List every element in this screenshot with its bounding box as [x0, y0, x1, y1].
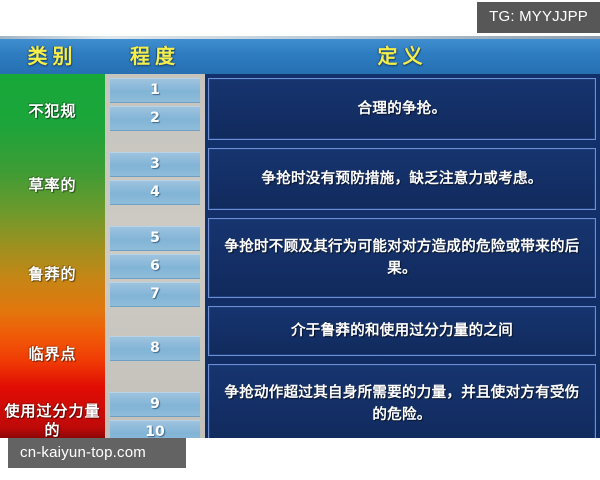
definition-box: 争抢时没有预防措施，缺乏注意力或考虑。 [208, 148, 596, 210]
site-watermark: cn-kaiyun-top.com [8, 438, 186, 468]
header-cell-degree: 程度 [105, 39, 205, 74]
degree-cell: 6 [110, 254, 200, 279]
slide-table: 类别 程度 定义 不犯规草率的鲁莽的临界点使用过分力量的 12345678910… [0, 36, 600, 438]
header-cell-definition: 定义 [205, 39, 600, 74]
degree-cell: 1 [110, 78, 200, 103]
degree-cell: 5 [110, 226, 200, 251]
category-label: 使用过分力量的 [0, 402, 105, 438]
degree-cell: 3 [110, 152, 200, 177]
degree-cell: 4 [110, 180, 200, 205]
category-label: 临界点 [0, 345, 105, 364]
degree-cell: 2 [110, 106, 200, 131]
definition-box: 介于鲁莽的和使用过分力量的之间 [208, 306, 596, 356]
category-label: 草率的 [0, 176, 105, 195]
definition-box: 合理的争抢。 [208, 78, 596, 140]
degree-cell: 10 [110, 420, 200, 438]
category-gradient-column: 不犯规草率的鲁莽的临界点使用过分力量的 [0, 74, 105, 438]
header-cell-category: 类别 [0, 39, 105, 74]
definition-text: 介于鲁莽的和使用过分力量的之间 [281, 320, 523, 342]
degree-column: 12345678910 [105, 74, 205, 438]
definition-text: 争抢动作超过其自身所需要的力量，并且使对方有受伤的危险。 [209, 382, 595, 426]
definition-text: 争抢时不顾及其行为可能对对方造成的危险或带来的后果。 [209, 236, 595, 280]
definition-box: 争抢时不顾及其行为可能对对方造成的危险或带来的后果。 [208, 218, 596, 298]
category-label: 鲁莽的 [0, 265, 105, 284]
definition-column: 合理的争抢。争抢时没有预防措施，缺乏注意力或考虑。争抢时不顾及其行为可能对对方造… [205, 74, 600, 438]
definition-box: 争抢动作超过其自身所需要的力量，并且使对方有受伤的危险。 [208, 364, 596, 438]
degree-cell: 9 [110, 392, 200, 417]
table-header-row: 类别 程度 定义 [0, 39, 600, 74]
degree-cell: 8 [110, 336, 200, 361]
tg-handle-badge: TG: MYYJJPP [477, 2, 600, 33]
definition-text: 合理的争抢。 [348, 98, 457, 120]
degree-cell: 7 [110, 282, 200, 307]
category-label: 不犯规 [0, 102, 105, 121]
definition-text: 争抢时没有预防措施，缺乏注意力或考虑。 [251, 168, 552, 190]
